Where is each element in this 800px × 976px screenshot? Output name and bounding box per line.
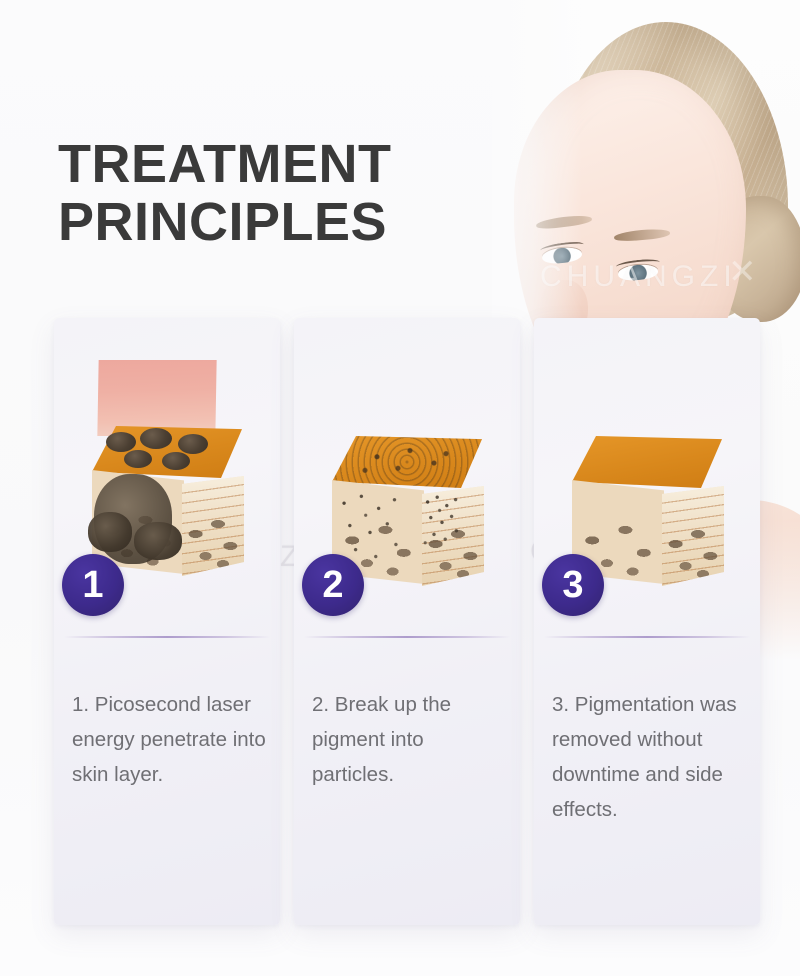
step-card-1[interactable]: 1 1. Picosecond laser energy penetrate i… <box>54 318 280 925</box>
step-3-illustration: 3 <box>534 318 760 628</box>
skin-surface-top <box>332 436 482 488</box>
page-title-line-1: TREATMENT <box>58 136 488 194</box>
step-number-badge-2: 2 <box>302 554 364 616</box>
step-2-illustration: 2 <box>294 318 520 628</box>
pigment-blob <box>124 450 152 468</box>
page-title-line-2: PRINCIPLES <box>58 194 488 252</box>
infographic-page: CHUANGZI ✕ TREATMENT PRINCIPLES CHUANGZI… <box>0 0 800 976</box>
pigment-mass <box>88 512 132 552</box>
laser-beam-patch <box>97 360 216 436</box>
skin-surface-top <box>572 436 722 488</box>
pigment-blob <box>162 452 190 470</box>
skin-cells <box>662 486 724 586</box>
step-number-badge-3: 3 <box>542 554 604 616</box>
step-card-3[interactable]: 3 3. Pigmentation was removed without do… <box>534 318 760 925</box>
skin-layers-side <box>182 476 244 576</box>
page-title: TREATMENT PRINCIPLES <box>58 136 488 252</box>
skin-cube-1 <box>80 426 248 576</box>
pigment-blob <box>140 428 172 449</box>
step-caption-1: 1. Picosecond laser energy penetrate int… <box>72 687 266 793</box>
step-caption-2: 2. Break up the pigment into particles. <box>312 687 506 793</box>
skin-layers-side <box>422 486 484 586</box>
pigment-blob <box>106 432 136 452</box>
card-divider <box>304 636 510 638</box>
card-divider <box>544 636 750 638</box>
steps-container: 1 1. Picosecond laser energy penetrate i… <box>54 318 760 925</box>
step-1-illustration: 1 <box>54 318 280 628</box>
step-caption-3: 3. Pigmentation was removed without down… <box>552 687 746 828</box>
skin-cells <box>182 476 244 576</box>
pigment-particles <box>422 490 462 550</box>
card-divider <box>64 636 270 638</box>
eyebrow-right <box>614 228 671 243</box>
skin-layers-side <box>662 486 724 586</box>
step-card-2[interactable]: 2 2. Break up the pigment into particles… <box>294 318 520 925</box>
pigment-mass <box>134 522 182 560</box>
step-number-badge-1: 1 <box>62 554 124 616</box>
pigment-blob <box>178 434 208 454</box>
